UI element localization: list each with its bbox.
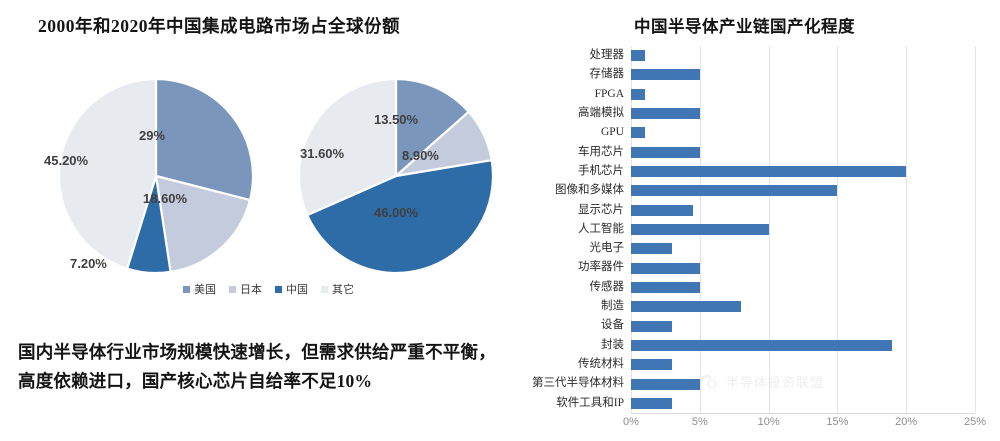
legend-item-日本[interactable]: 日本 bbox=[229, 281, 262, 297]
pie-2020-label-jp: 8.90% bbox=[402, 148, 439, 163]
bar-row[interactable]: 高端模拟 bbox=[631, 104, 975, 123]
pie-2000-label-cn: 7.20% bbox=[70, 256, 107, 271]
bar-category-label: 制造 bbox=[601, 297, 624, 316]
legend-label: 中国 bbox=[286, 281, 308, 297]
bar-category-label: 显示芯片 bbox=[578, 201, 624, 220]
legend-item-中国[interactable]: 中国 bbox=[275, 281, 308, 297]
bar-fill bbox=[631, 108, 700, 119]
bar-row[interactable]: 设备 bbox=[631, 316, 975, 335]
bar-category-label: 封装 bbox=[601, 336, 624, 355]
pie-chart-2000-slices bbox=[59, 79, 253, 273]
pie-legend: 美国日本中国其它 bbox=[183, 281, 354, 297]
bar-fill bbox=[631, 301, 741, 312]
bar-row[interactable]: 图像和多媒体 bbox=[631, 181, 975, 200]
legend-label: 美国 bbox=[194, 281, 216, 297]
legend-item-美国[interactable]: 美国 bbox=[183, 281, 216, 297]
x-tick-label: 20% bbox=[895, 416, 917, 428]
pie-2020-label-other: 31.60% bbox=[300, 146, 344, 161]
bar-fill bbox=[631, 166, 906, 177]
bar-category-label: GPU bbox=[601, 123, 624, 142]
bar-fill bbox=[631, 69, 700, 80]
bar-fill bbox=[631, 89, 645, 100]
bar-fill bbox=[631, 205, 693, 216]
bar-category-label: 设备 bbox=[601, 316, 624, 335]
bar-fill bbox=[631, 282, 700, 293]
bar-row[interactable]: 光电子 bbox=[631, 239, 975, 258]
x-tick-label: 15% bbox=[826, 416, 848, 428]
pie-chart-2020-slices bbox=[299, 79, 493, 273]
legend-swatch-icon bbox=[321, 286, 328, 293]
legend-swatch-icon bbox=[183, 286, 190, 293]
legend-swatch-icon bbox=[229, 286, 236, 293]
bar-row[interactable]: 人工智能 bbox=[631, 220, 975, 239]
bar-category-label: 光电子 bbox=[590, 239, 625, 258]
bar-category-label: 传统材料 bbox=[578, 355, 624, 374]
left-chart-title: 2000年和2020年中国集成电路市场占全球份额 bbox=[38, 13, 400, 38]
pie-chart-2020-svg bbox=[296, 76, 496, 276]
bar-fill bbox=[631, 185, 837, 196]
pie-2000-label-other: 45.20% bbox=[44, 153, 88, 168]
bar-fill bbox=[631, 359, 672, 370]
x-axis-ticks: 0%5%10%15%20%25% bbox=[631, 416, 975, 436]
bar-row[interactable]: 车用芯片 bbox=[631, 143, 975, 162]
gridline-25% bbox=[975, 46, 976, 413]
bar-plot-area: 处理器存储器FPGA高端模拟GPU车用芯片手机芯片图像和多媒体显示芯片人工智能光… bbox=[631, 46, 975, 413]
bar-category-label: 车用芯片 bbox=[578, 143, 624, 162]
bar-row[interactable]: 功率器件 bbox=[631, 258, 975, 277]
legend-label: 日本 bbox=[240, 281, 262, 297]
bar-category-label: 存储器 bbox=[590, 65, 625, 84]
x-tick-label: 25% bbox=[964, 416, 986, 428]
legend-item-其它[interactable]: 其它 bbox=[321, 281, 354, 297]
bar-category-label: 图像和多媒体 bbox=[555, 181, 624, 200]
bar-fill bbox=[631, 263, 700, 274]
bar-row[interactable]: 存储器 bbox=[631, 65, 975, 84]
bar-category-label: 人工智能 bbox=[578, 220, 624, 239]
bar-category-label: 软件工具和IP bbox=[556, 394, 624, 413]
legend-swatch-icon bbox=[275, 286, 282, 293]
x-tick-label: 5% bbox=[692, 416, 708, 428]
bar-fill bbox=[631, 224, 769, 235]
caption-text: 国内半导体行业市场规模快速增长，但需求供给严重不平衡，高度依赖进口，国产核心芯片… bbox=[18, 338, 500, 396]
bar-row[interactable]: GPU bbox=[631, 123, 975, 142]
pie-chart-2000 bbox=[56, 76, 256, 276]
bar-category-label: 第三代半导体材料 bbox=[532, 374, 624, 393]
bar-row[interactable]: 处理器 bbox=[631, 46, 975, 65]
bar-category-label: 高端模拟 bbox=[578, 104, 624, 123]
pie-2000-label-jp: 18.60% bbox=[143, 191, 187, 206]
bar-category-label: 传感器 bbox=[590, 278, 625, 297]
bar-fill bbox=[631, 398, 672, 409]
bar-category-label: FPGA bbox=[595, 85, 624, 104]
bar-category-label: 手机芯片 bbox=[578, 162, 624, 181]
pie-2020-label-cn: 46.00% bbox=[374, 205, 418, 220]
bar-row[interactable]: 制造 bbox=[631, 297, 975, 316]
bar-fill bbox=[631, 127, 645, 138]
bar-fill bbox=[631, 147, 700, 158]
x-axis-line bbox=[631, 413, 975, 414]
pie-2000-label-us: 29% bbox=[139, 128, 165, 143]
bar-fill bbox=[631, 379, 700, 390]
bar-chart-panel: 中国半导体产业链国产化程度 处理器存储器FPGA高端模拟GPU车用芯片手机芯片图… bbox=[520, 0, 1000, 441]
bar-row[interactable]: 封装 bbox=[631, 336, 975, 355]
bar-fill bbox=[631, 321, 672, 332]
pie-2020-label-us: 13.50% bbox=[374, 112, 418, 127]
x-tick-label: 0% bbox=[623, 416, 639, 428]
bar-row[interactable]: FPGA bbox=[631, 85, 975, 104]
bar-row[interactable]: 传感器 bbox=[631, 278, 975, 297]
pie-chart-2000-svg bbox=[56, 76, 256, 276]
bar-fill bbox=[631, 340, 892, 351]
bar-row[interactable]: 软件工具和IP bbox=[631, 394, 975, 413]
bar-row[interactable]: 第三代半导体材料 bbox=[631, 374, 975, 393]
bar-fill bbox=[631, 50, 645, 61]
bar-row[interactable]: 传统材料 bbox=[631, 355, 975, 374]
bar-row[interactable]: 显示芯片 bbox=[631, 201, 975, 220]
localization-bar-chart: 处理器存储器FPGA高端模拟GPU车用芯片手机芯片图像和多媒体显示芯片人工智能光… bbox=[520, 0, 1000, 441]
bar-fill bbox=[631, 243, 672, 254]
bar-category-label: 处理器 bbox=[590, 46, 625, 65]
bar-rows: 处理器存储器FPGA高端模拟GPU车用芯片手机芯片图像和多媒体显示芯片人工智能光… bbox=[631, 46, 975, 413]
pie-charts-panel: 2000年和2020年中国集成电路市场占全球份额 29% 18.60% 7.20… bbox=[0, 0, 520, 441]
pie-chart-2020 bbox=[296, 76, 496, 276]
x-tick-label: 10% bbox=[758, 416, 780, 428]
bar-category-label: 功率器件 bbox=[578, 258, 624, 277]
bar-row[interactable]: 手机芯片 bbox=[631, 162, 975, 181]
legend-label: 其它 bbox=[332, 281, 354, 297]
